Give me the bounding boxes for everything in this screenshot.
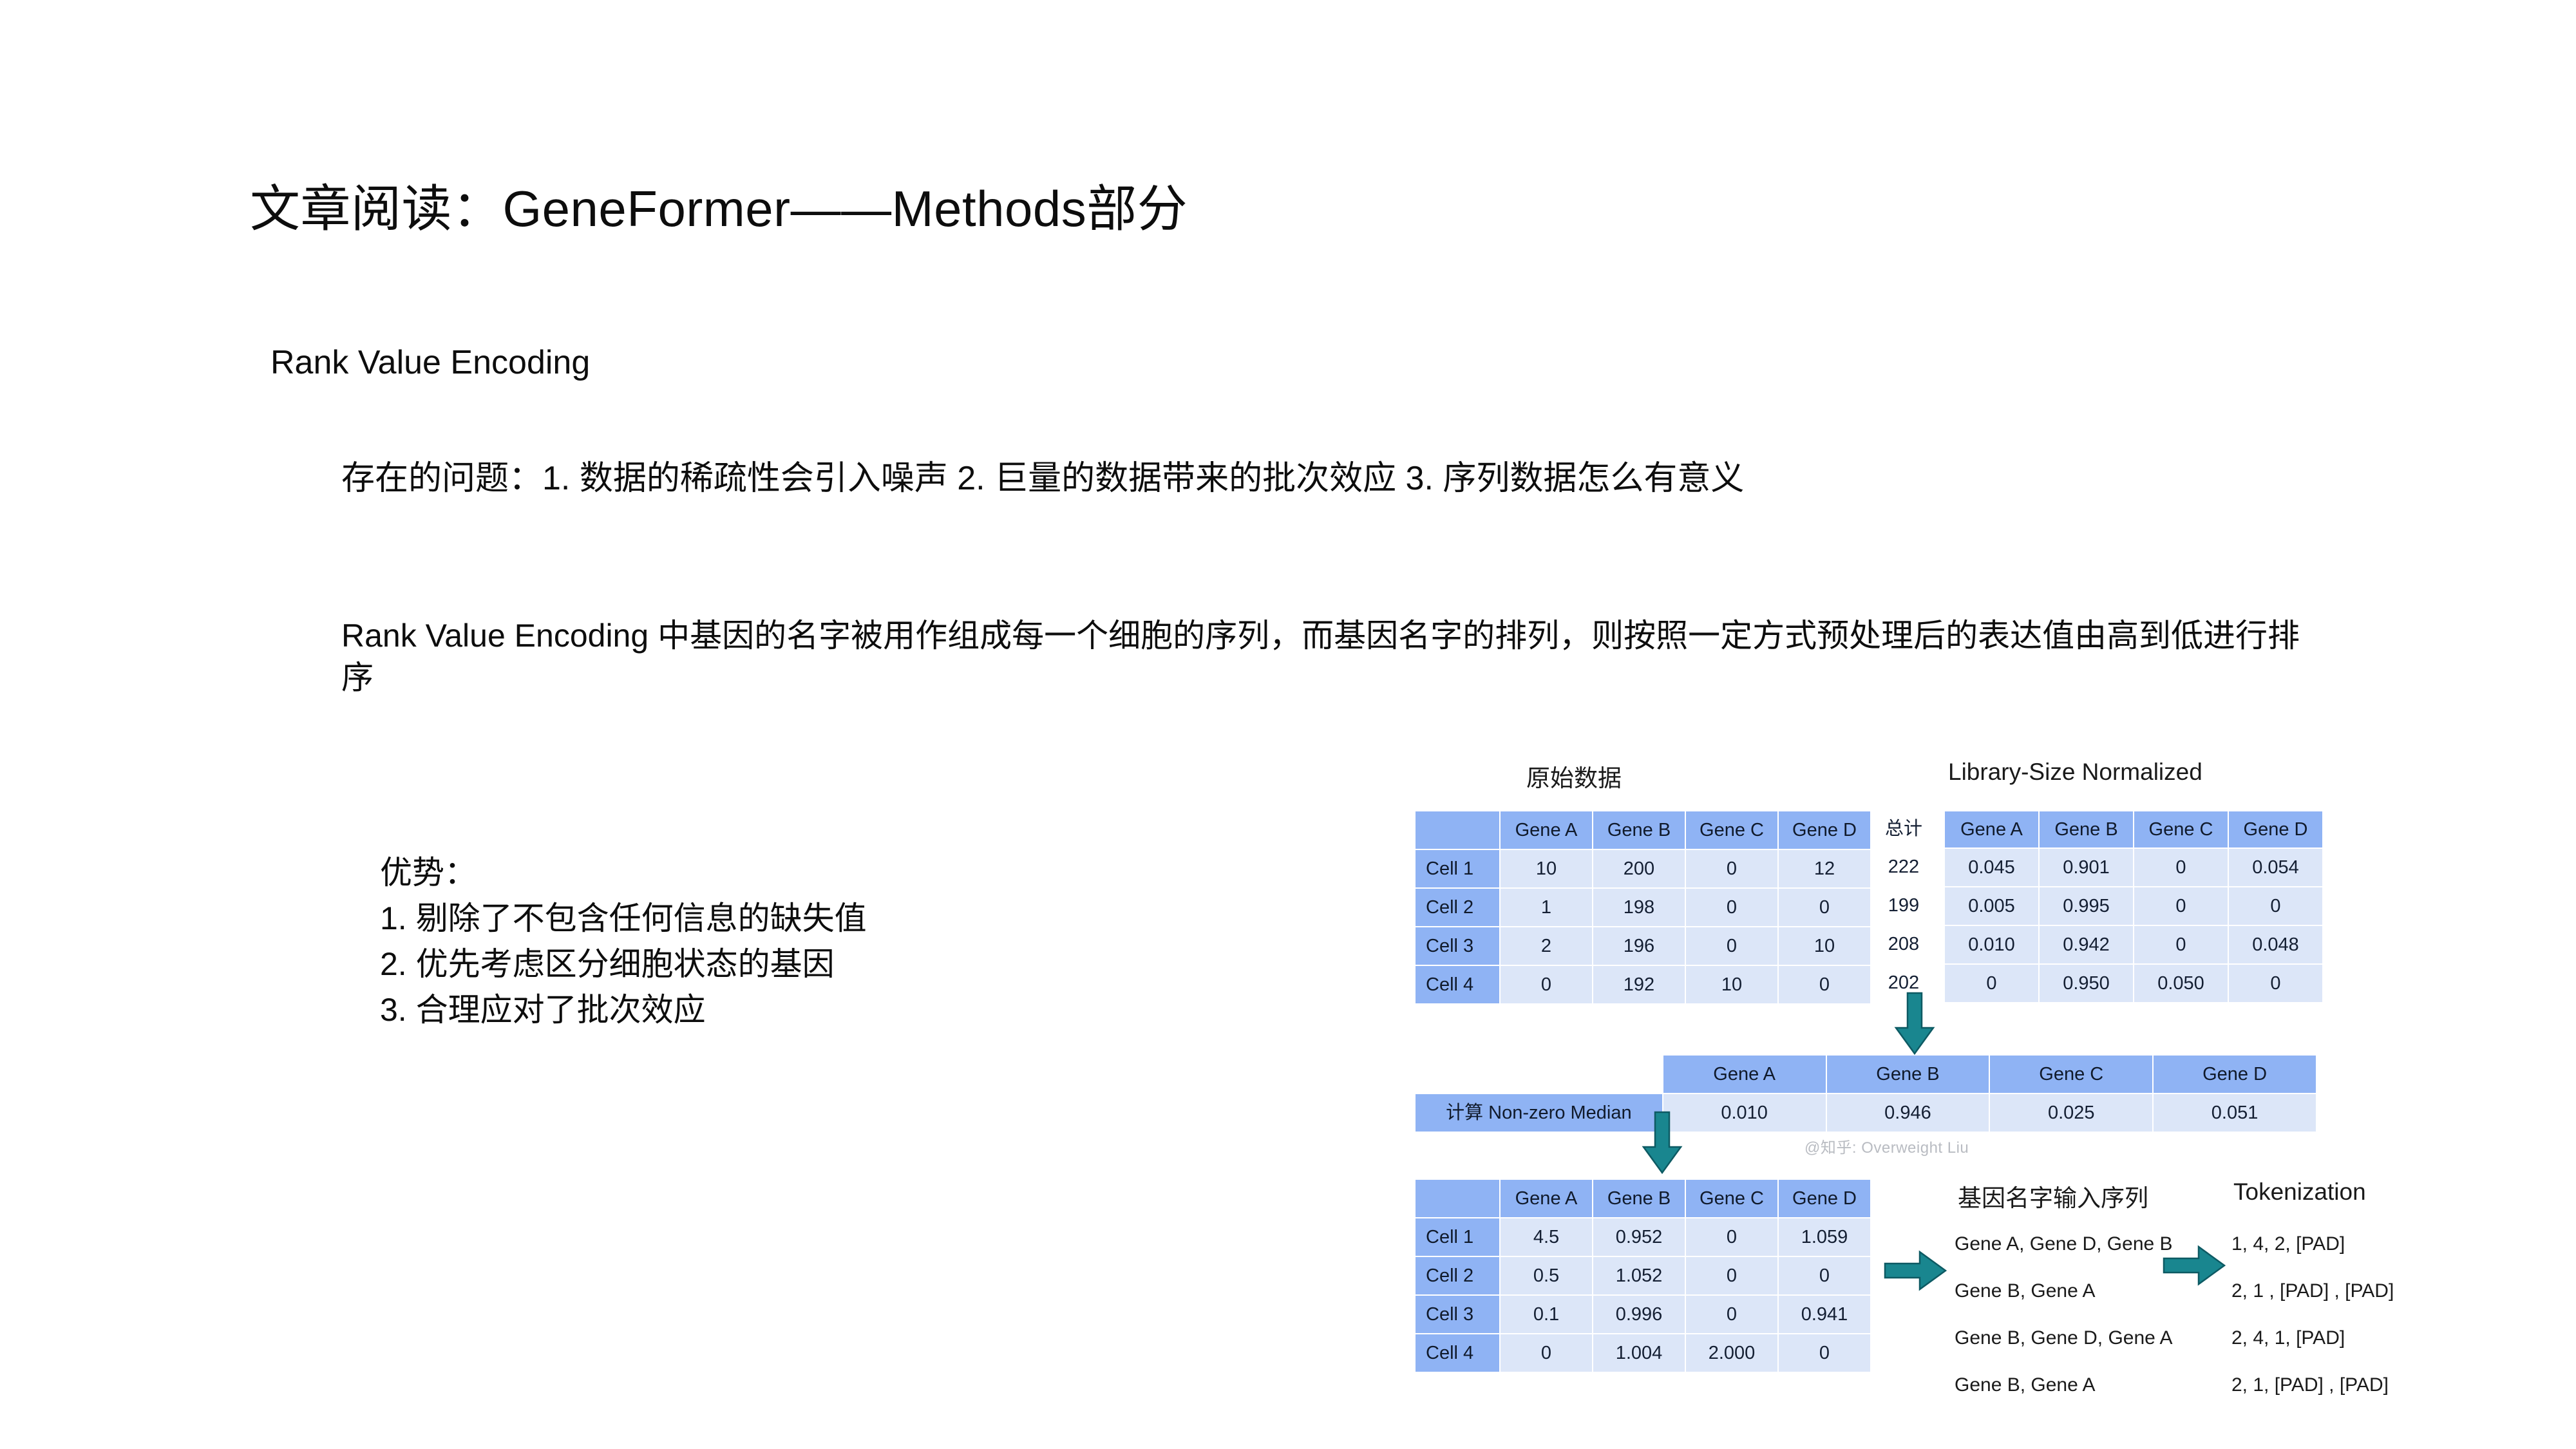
row-header: Cell 2	[1416, 1257, 1499, 1294]
table-cell: 4.5	[1501, 1218, 1592, 1256]
column-header: Gene C	[2134, 811, 2228, 848]
row-header: Cell 1	[1416, 1218, 1499, 1256]
table-cell: 1	[1501, 889, 1592, 926]
column-header: Gene D	[1779, 1180, 1870, 1217]
table-row: 0 0.950 0.050 0	[1945, 965, 2322, 1002]
column-header: Gene D	[2229, 811, 2322, 848]
column-header: Gene C	[1990, 1056, 2152, 1093]
down-arrow-icon-2	[1641, 1111, 1683, 1175]
problem-statement: 存在的问题：1. 数据的稀疏性会引入噪声 2. 巨量的数据带来的批次效应 3. …	[341, 451, 1744, 499]
tokenization-item: 2, 1, [PAD] , [PAD]	[2231, 1361, 2394, 1408]
rank-value-encoding-diagram: 原始数据 Library-Size Normalized Gene A Gene…	[1404, 741, 2512, 1391]
normalized-caption: Library-Size Normalized	[1948, 759, 2202, 786]
column-header: Gene D	[1779, 811, 1870, 849]
totals-value: 222	[1869, 848, 1938, 886]
table-cell: 0.996	[1593, 1296, 1685, 1333]
table-cell: 0.901	[2040, 849, 2133, 886]
corner-cell	[1416, 1180, 1499, 1217]
right-arrow-icon-2	[2163, 1244, 2227, 1287]
table-cell: 0	[1686, 1296, 1777, 1333]
row-header: Cell 4	[1416, 966, 1499, 1003]
table-cell: 0	[1501, 1334, 1592, 1372]
table-cell: 0.5	[1501, 1257, 1592, 1294]
column-header: Gene A	[1501, 1180, 1592, 1217]
table-cell: 0.051	[2154, 1094, 2316, 1132]
table-cell: 0.1	[1501, 1296, 1592, 1333]
tokenization-column: 1, 4, 2, [PAD] 2, 1 , [PAD] , [PAD] 2, 4…	[2231, 1220, 2394, 1408]
table-cell: 198	[1593, 889, 1685, 926]
totals-header: 总计	[1869, 810, 1938, 848]
table-cell: 0	[1686, 1218, 1777, 1256]
table-row: Cell 3 0.1 0.996 0 0.941	[1416, 1296, 1870, 1333]
table-cell: 0	[1779, 966, 1870, 1003]
table-cell: 0	[1779, 889, 1870, 926]
table-row: Cell 2 1 198 0 0	[1416, 889, 1870, 926]
table-header-row: Gene A Gene B Gene C Gene D	[1416, 1180, 1870, 1217]
section-heading: Rank Value Encoding	[270, 343, 590, 382]
column-header: Gene A	[1663, 1056, 1826, 1093]
gene-sequence-item: Gene B, Gene A	[1955, 1361, 2173, 1408]
tokenization-item: 2, 1 , [PAD] , [PAD]	[2231, 1267, 2394, 1314]
table-cell: 0.995	[2040, 887, 2133, 925]
column-header: Gene B	[1593, 1180, 1685, 1217]
table-cell: 0	[2134, 887, 2228, 925]
table-header-row: Gene A Gene B Gene C Gene D	[1945, 811, 2322, 848]
table-cell: 0.050	[2134, 965, 2228, 1002]
table-row: Cell 4 0 1.004 2.000 0	[1416, 1334, 1870, 1372]
table-row: Cell 1 4.5 0.952 0 1.059	[1416, 1218, 1870, 1256]
table-cell: 0.005	[1945, 887, 2038, 925]
row-header: Cell 4	[1416, 1334, 1499, 1372]
column-header: Gene A	[1501, 811, 1592, 849]
table-cell: 0	[2134, 926, 2228, 963]
table-cell: 0.054	[2229, 849, 2322, 886]
table-cell: 0	[1779, 1257, 1870, 1294]
table-cell: 0	[1945, 965, 2038, 1002]
gene-sequence-item: Gene B, Gene D, Gene A	[1955, 1314, 2173, 1361]
table-cell: 2.000	[1686, 1334, 1777, 1372]
gene-sequence-caption: 基因名字输入序列	[1958, 1179, 2148, 1213]
down-arrow-icon-1	[1893, 992, 1936, 1056]
table-cell: 10	[1686, 966, 1777, 1003]
table-cell: 1.052	[1593, 1257, 1685, 1294]
ranked-values-table: Gene A Gene B Gene C Gene D Cell 1 4.5 0…	[1414, 1179, 1871, 1373]
table-cell: 1.059	[1779, 1218, 1870, 1256]
table-cell: 200	[1593, 850, 1685, 887]
row-header: Cell 1	[1416, 850, 1499, 887]
table-row: Cell 2 0.5 1.052 0 0	[1416, 1257, 1870, 1294]
description-paragraph: Rank Value Encoding 中基因的名字被用作组成每一个细胞的序列，…	[341, 615, 2312, 699]
table-cell: 0.946	[1827, 1094, 1989, 1132]
tokenization-item: 2, 4, 1, [PAD]	[2231, 1314, 2394, 1361]
row-header: Cell 3	[1416, 927, 1499, 965]
table-cell: 0.010	[1945, 926, 2038, 963]
column-header: Gene A	[1945, 811, 2038, 848]
gene-sequence-item: Gene A, Gene D, Gene B	[1955, 1220, 2173, 1267]
advantage-item-3: 3. 合理应对了批次效应	[380, 987, 867, 1033]
totals-column: 总计 222 199 208 202	[1869, 810, 1938, 1002]
table-cell: 0.942	[2040, 926, 2133, 963]
advantage-item-1: 1. 剔除了不包含任何信息的缺失值	[380, 896, 867, 942]
row-header: Cell 2	[1416, 889, 1499, 926]
table-cell: 0	[1686, 1257, 1777, 1294]
table-row: 0.045 0.901 0 0.054	[1945, 849, 2322, 886]
table-cell: 10	[1501, 850, 1592, 887]
table-row: Cell 4 0 192 10 0	[1416, 966, 1870, 1003]
gene-sequence-item: Gene B, Gene A	[1955, 1267, 2173, 1314]
column-header: Gene D	[2154, 1056, 2316, 1093]
table-header-row: Gene A Gene B Gene C Gene D	[1416, 1056, 2316, 1093]
table-row: 0.005 0.995 0 0	[1945, 887, 2322, 925]
column-header: Gene C	[1686, 811, 1777, 849]
page-title: 文章阅读：GeneFormer——Methods部分	[250, 169, 1188, 241]
table-row: 0.010 0.942 0 0.048	[1945, 926, 2322, 963]
column-header: Gene B	[1827, 1056, 1989, 1093]
table-cell: 0	[2134, 849, 2228, 886]
table-row: 计算 Non-zero Median 0.010 0.946 0.025 0.0…	[1416, 1094, 2316, 1132]
row-header: Cell 3	[1416, 1296, 1499, 1333]
table-cell: 0	[1779, 1334, 1870, 1372]
table-cell: 0	[2229, 887, 2322, 925]
raw-data-table: Gene A Gene B Gene C Gene D Cell 1 10 20…	[1414, 810, 1871, 1005]
table-cell: 0.010	[1663, 1094, 1826, 1132]
table-row: Cell 3 2 196 0 10	[1416, 927, 1870, 965]
watermark: @知乎: Overweight Liu	[1804, 1135, 1969, 1157]
table-cell: 0.025	[1990, 1094, 2152, 1132]
table-cell: 192	[1593, 966, 1685, 1003]
gene-sequence-column: Gene A, Gene D, Gene B Gene B, Gene A Ge…	[1955, 1220, 2173, 1408]
column-header: Gene B	[1593, 811, 1685, 849]
table-cell: 0.950	[2040, 965, 2133, 1002]
totals-value: 199	[1869, 886, 1938, 925]
table-cell: 0	[1501, 966, 1592, 1003]
table-header-row: Gene A Gene B Gene C Gene D	[1416, 811, 1870, 849]
table-cell: 1.004	[1593, 1334, 1685, 1372]
table-cell: 12	[1779, 850, 1870, 887]
table-row: Cell 1 10 200 0 12	[1416, 850, 1870, 887]
table-cell: 0	[1686, 850, 1777, 887]
tokenization-caption: Tokenization	[2233, 1179, 2366, 1206]
right-arrow-icon-1	[1884, 1249, 1948, 1292]
table-cell: 2	[1501, 927, 1592, 965]
table-cell: 0	[1686, 889, 1777, 926]
totals-value: 208	[1869, 925, 1938, 963]
row-header: 计算 Non-zero Median	[1416, 1094, 1662, 1132]
table-cell: 0.048	[2229, 926, 2322, 963]
table-cell: 0	[2229, 965, 2322, 1002]
corner-cell	[1416, 1056, 1662, 1093]
table-cell: 10	[1779, 927, 1870, 965]
table-cell: 0.045	[1945, 849, 2038, 886]
column-header: Gene C	[1686, 1180, 1777, 1217]
advantage-item-2: 2. 优先考虑区分细胞状态的基因	[380, 942, 867, 987]
table-cell: 0	[1686, 927, 1777, 965]
table-cell: 0.952	[1593, 1218, 1685, 1256]
advantages-title: 优势：	[380, 850, 867, 896]
normalized-table: Gene A Gene B Gene C Gene D 0.045 0.901 …	[1944, 810, 2324, 1003]
nonzero-median-table: Gene A Gene B Gene C Gene D 计算 Non-zero …	[1414, 1054, 2317, 1133]
advantages-list: 优势： 1. 剔除了不包含任何信息的缺失值 2. 优先考虑区分细胞状态的基因 3…	[380, 850, 867, 1033]
table-cell: 0.941	[1779, 1296, 1870, 1333]
tokenization-item: 1, 4, 2, [PAD]	[2231, 1220, 2394, 1267]
corner-cell	[1416, 811, 1499, 849]
raw-data-caption: 原始数据	[1526, 759, 1622, 793]
table-cell: 196	[1593, 927, 1685, 965]
column-header: Gene B	[2040, 811, 2133, 848]
